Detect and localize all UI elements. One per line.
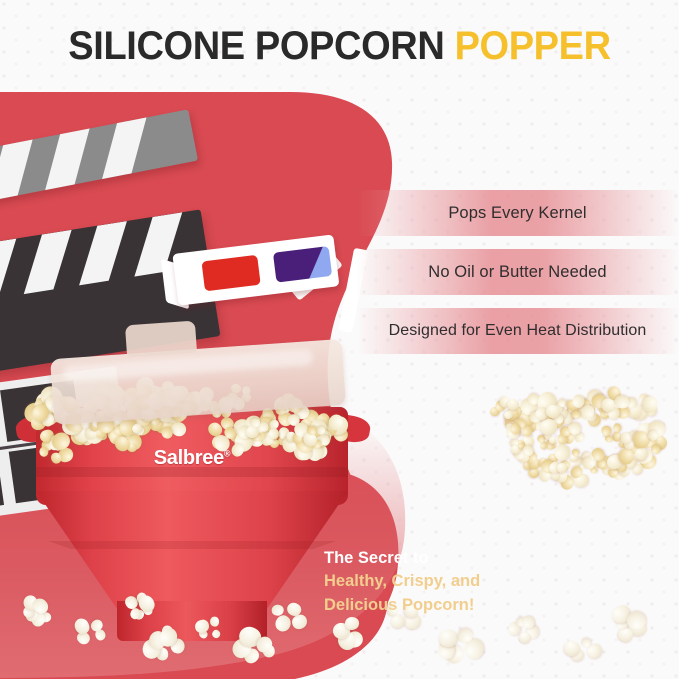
glasses-lens-blue	[273, 246, 332, 283]
product-marketing-image: SILICONE POPCORN POPPER	[0, 0, 679, 679]
tagline-line-3: Delicious Popcorn!	[324, 594, 480, 617]
popcorn-kernel	[618, 448, 633, 464]
popcorn-kernel	[210, 617, 219, 627]
feature-label: Designed for Even Heat Distribution	[389, 322, 647, 340]
feature-bar: Designed for Even Heat Distribution	[356, 308, 679, 354]
popcorn-kernel	[72, 616, 91, 636]
product-popcorn-bowl: Salbree®	[18, 345, 366, 635]
feature-list: Pops Every Kernel No Oil or Butter Neede…	[356, 190, 679, 354]
lid-handle	[125, 321, 197, 358]
popcorn-kernel	[613, 423, 622, 432]
bowl-collapsible-cone	[36, 491, 348, 609]
title-accent: POPPER	[455, 24, 611, 68]
bowl-fold-crease	[48, 541, 336, 549]
glasses-frame	[172, 234, 339, 305]
popcorn-kernel	[632, 430, 649, 448]
popcorn-kernel	[634, 447, 648, 460]
glasses-lens-red	[201, 255, 260, 292]
trademark-symbol: ®	[224, 448, 230, 458]
feature-bar: No Oil or Butter Needed	[356, 249, 679, 295]
popcorn-kernel	[194, 619, 211, 635]
popcorn-kernel	[344, 616, 360, 631]
tagline-line-2: Healthy, Crispy, and	[324, 570, 480, 593]
tagline-line-1: The Secret to	[324, 547, 480, 570]
brand-logo: Salbree®	[18, 447, 366, 470]
feature-label: Pops Every Kernel	[448, 204, 586, 223]
feature-label: No Oil or Butter Needed	[428, 263, 606, 282]
popcorn-scatter-bottom-left	[14, 598, 314, 668]
brand-name: Salbree	[154, 447, 224, 469]
title-primary: SILICONE POPCORN	[68, 24, 444, 68]
page-title: SILICONE POPCORN POPPER	[17, 26, 662, 66]
popcorn-pile-right	[492, 392, 670, 510]
tagline-block: The Secret to Healthy, Crispy, and Delic…	[324, 547, 480, 617]
popcorn-scatter-bottom-right	[330, 610, 670, 674]
feature-bar: Pops Every Kernel	[356, 190, 679, 236]
lid-highlight	[63, 349, 314, 382]
popcorn-kernel	[272, 612, 293, 634]
popcorn-kernel	[210, 628, 221, 639]
